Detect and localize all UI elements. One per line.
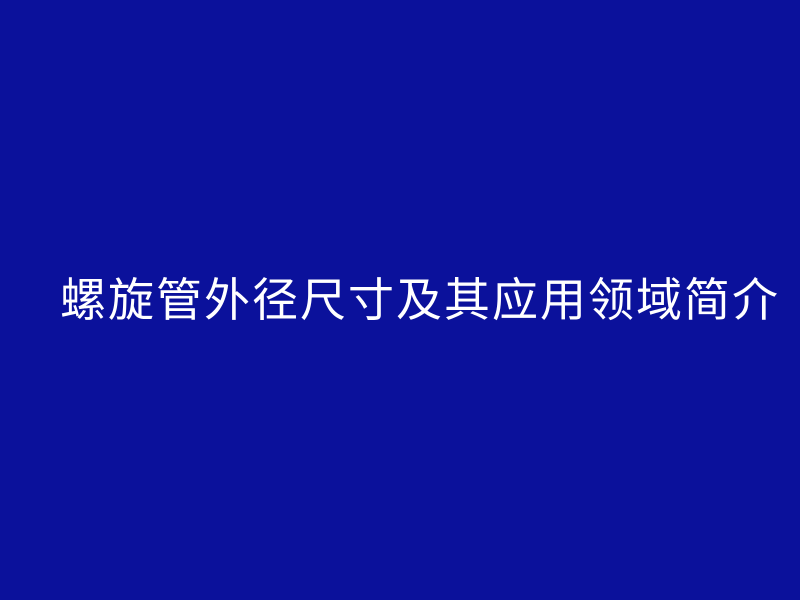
title-slide: 螺旋管外径尺寸及其应用领域简介 xyxy=(0,0,800,600)
title-block: 螺旋管外径尺寸及其应用领域简介 xyxy=(0,0,800,600)
slide-title: 螺旋管外径尺寸及其应用领域简介 xyxy=(0,277,780,323)
